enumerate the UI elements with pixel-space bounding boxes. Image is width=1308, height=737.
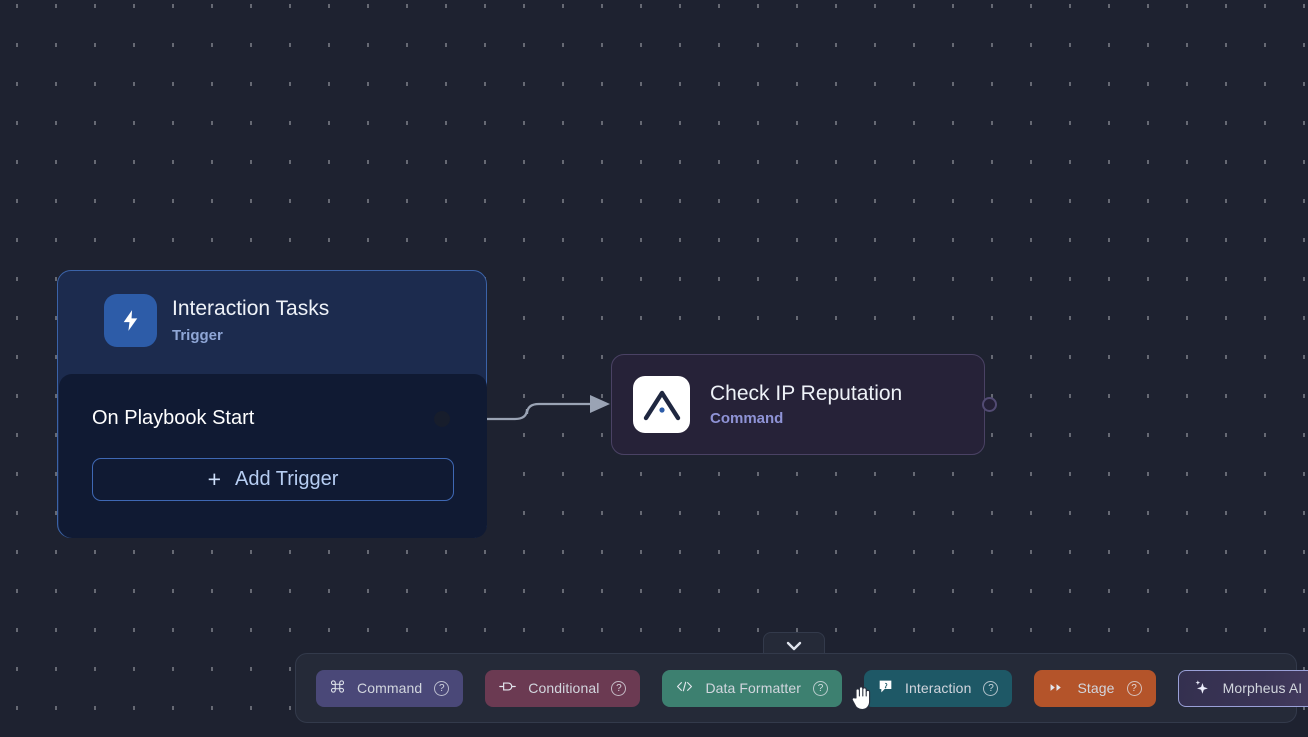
tool-button-conditional[interactable]: Conditional ? (485, 670, 640, 707)
trigger-node-header: Interaction Tasks Trigger (58, 271, 486, 347)
tool-label-command: Command (357, 680, 422, 696)
command-output-port[interactable] (982, 397, 997, 412)
help-icon-stage[interactable]: ? (1127, 681, 1142, 696)
node-palette-toolbar[interactable]: Command ? Conditional ? Data Formatter ? (295, 653, 1297, 723)
tool-button-morpheus-ai[interactable]: Morpheus AI ? (1178, 670, 1308, 707)
help-icon-conditional[interactable]: ? (611, 681, 626, 696)
playbook-canvas[interactable]: Interaction Tasks Trigger On Playbook St… (0, 0, 1308, 737)
plus-icon: + (208, 468, 221, 491)
add-trigger-button[interactable]: + Add Trigger (92, 458, 454, 501)
tool-button-data-formatter[interactable]: Data Formatter ? (662, 670, 842, 707)
command-node-subtitle: Command (710, 410, 902, 427)
tool-label-interaction: Interaction (905, 680, 971, 696)
help-icon-command[interactable]: ? (434, 681, 449, 696)
trigger-body-title: On Playbook Start (59, 374, 487, 430)
tool-button-interaction[interactable]: Interaction ? (864, 670, 1012, 707)
help-icon-interaction[interactable]: ? (983, 681, 998, 696)
tool-label-morpheus-ai: Morpheus AI (1223, 680, 1303, 696)
conditional-node-icon (499, 680, 516, 696)
command-node[interactable]: Check IP Reputation Command (611, 354, 985, 455)
chevron-down-icon (786, 641, 802, 651)
trigger-node-text: Interaction Tasks Trigger (172, 297, 329, 343)
double-chevron-icon (1048, 680, 1065, 696)
tool-label-data-formatter: Data Formatter (705, 680, 801, 696)
trigger-node-body: On Playbook Start + Add Trigger (59, 374, 487, 538)
trigger-node-title: Interaction Tasks (172, 297, 329, 321)
tool-button-stage[interactable]: Stage ? (1034, 670, 1155, 707)
tool-label-stage: Stage (1077, 680, 1114, 696)
command-key-icon (330, 679, 345, 697)
code-brackets-icon (676, 680, 693, 696)
trigger-node[interactable]: Interaction Tasks Trigger On Playbook St… (57, 270, 487, 538)
command-node-title: Check IP Reputation (710, 382, 902, 406)
trigger-node-subtitle: Trigger (172, 327, 329, 344)
help-icon-data-formatter[interactable]: ? (813, 681, 828, 696)
edge-arrow-head (590, 395, 610, 413)
command-node-text: Check IP Reputation Command (710, 382, 902, 427)
add-trigger-label: Add Trigger (235, 468, 338, 491)
lightning-bolt-icon (104, 294, 157, 347)
tool-label-conditional: Conditional (528, 680, 599, 696)
chat-bubble-icon (878, 679, 893, 697)
trigger-output-port[interactable] (434, 411, 450, 427)
anomali-arch-icon (633, 376, 690, 433)
sparkle-icon (1193, 678, 1211, 699)
tool-button-command[interactable]: Command ? (316, 670, 463, 707)
